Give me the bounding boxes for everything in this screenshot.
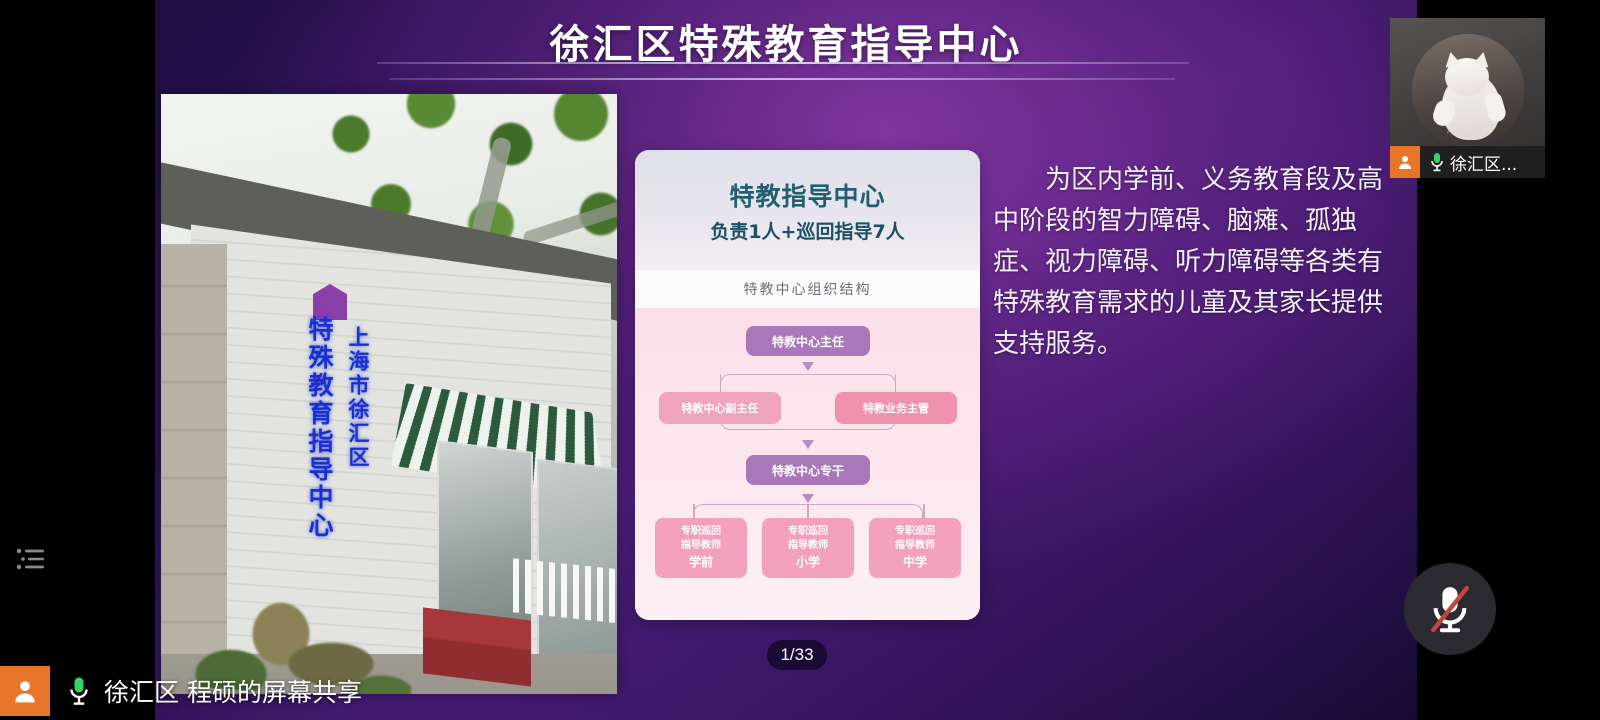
photo-picket-fence — [513, 558, 617, 624]
card-section-label: 特教中心组织结构 — [635, 270, 980, 308]
page-indicator: 1/33 — [767, 640, 827, 670]
building-photo: 上海市徐汇区 特殊教育指导中心 — [161, 94, 617, 694]
teacher-level-0: 学前 — [689, 554, 713, 570]
card-header: 特教指导中心 负责1人+巡回指导7人 — [635, 150, 980, 270]
cat-ear-right-shape — [1473, 50, 1492, 67]
teacher-level-1: 小学 — [796, 554, 820, 570]
avatar-caption: 对天发四 — [1412, 120, 1524, 136]
org-arrow-3 — [802, 494, 814, 503]
org-node-teacher-primary: 专职巡回指导教师 小学 — [762, 518, 854, 578]
org-node-business-supervisor: 特教业务主管 — [835, 392, 957, 424]
org-chart-body: 特教中心主任 特教中心副主任 特教业务主管 特教中心专干 专职巡回指导教师 学前 — [635, 308, 980, 620]
org-node-teacher-preschool: 专职巡回指导教师 学前 — [655, 518, 747, 578]
org-node-teacher-secondary: 专职巡回指导教师 中学 — [869, 518, 961, 578]
org-node-director: 特教中心主任 — [746, 326, 870, 356]
microphone-icon — [1426, 152, 1448, 172]
org-arrow-1 — [802, 362, 814, 371]
mute-button[interactable] — [1404, 563, 1496, 655]
participant-name: 徐汇区... — [1450, 150, 1517, 175]
title-divider-upper — [377, 62, 1189, 64]
person-icon — [1390, 146, 1420, 178]
teacher-role-1: 专职巡回指导教师 — [788, 525, 828, 552]
avatar: 对天发四 — [1412, 34, 1524, 146]
tile-name-label: 徐汇区... — [1390, 146, 1545, 178]
slide-paragraph: 为区内学前、义务教育段及高中阶段的智力障碍、脑瘫、孤独症、视力障碍、听力障碍等各… — [993, 160, 1391, 365]
card-heading: 特教指导中心 — [729, 177, 885, 213]
shared-slide[interactable]: 徐汇区特殊教育指导中心 上海市徐汇区 特殊教育指导中心 — [155, 0, 1417, 720]
participant-video-tile[interactable]: 对天发四 徐汇区... — [1390, 18, 1545, 178]
teacher-role-2: 专职巡回指导教师 — [895, 525, 935, 552]
teacher-level-2: 中学 — [903, 554, 927, 570]
left-black-bar — [0, 0, 155, 720]
card-subheading: 负责1人+巡回指导7人 — [710, 217, 904, 244]
photo-sign-line2: 特殊教育指导中心 — [301, 316, 337, 540]
teacher-role-0: 专职巡回指导教师 — [681, 525, 721, 552]
share-status-text: 徐汇区 程硕的屏幕共享 — [104, 673, 362, 709]
org-arrow-2 — [802, 440, 814, 449]
screen-root: 徐汇区特殊教育指导中心 上海市徐汇区 特殊教育指导中心 — [0, 0, 1600, 720]
screen-share-bar: 徐汇区 程硕的屏幕共享 — [0, 662, 400, 720]
photo-red-steps — [423, 607, 531, 686]
org-chart-card: 特教指导中心 负责1人+巡回指导7人 特教中心组织结构 特教中心主任 特教中心副… — [635, 150, 980, 620]
share-microphone-icon — [62, 676, 96, 706]
photo-sign-line1: 上海市徐汇区 — [343, 326, 373, 470]
title-divider-lower — [389, 78, 1175, 80]
org-teacher-row: 专职巡回指导教师 学前 专职巡回指导教师 小学 专职巡回指导教师 中学 — [655, 518, 961, 578]
list-icon[interactable] — [14, 542, 48, 576]
share-person-icon — [0, 666, 50, 716]
org-node-deputy-director: 特教中心副主任 — [659, 392, 781, 424]
org-node-staff: 特教中心专干 — [746, 455, 870, 485]
